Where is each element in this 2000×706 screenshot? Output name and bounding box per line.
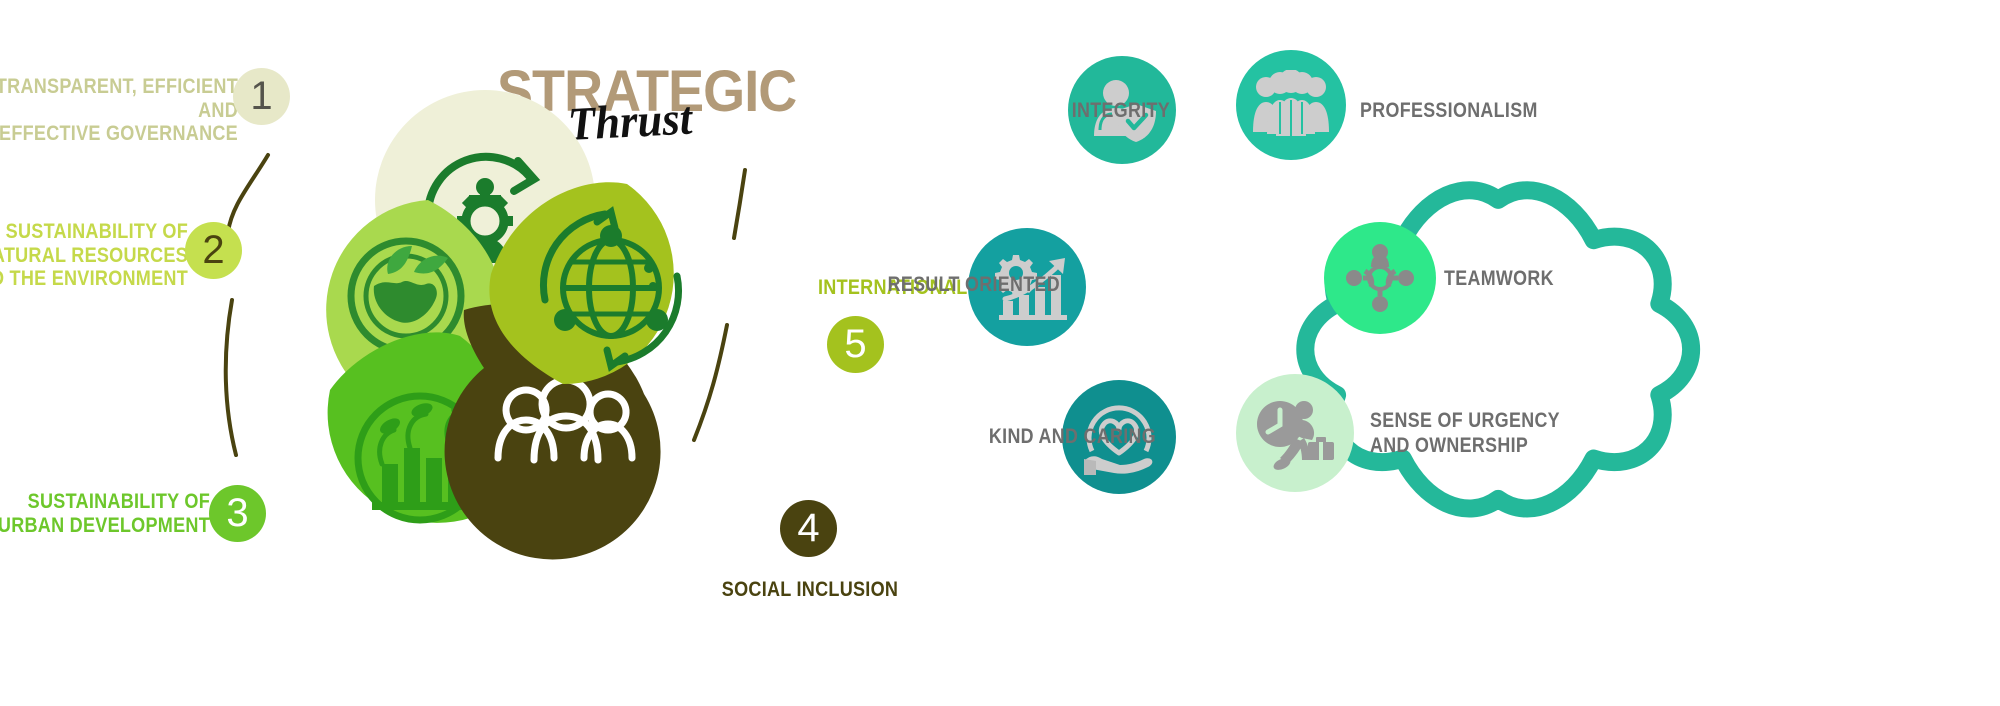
clock-running-person-icon	[1254, 394, 1336, 472]
value-label-professionalism: PROFESSIONALISM	[1360, 98, 1615, 123]
network-people-icon	[1343, 241, 1417, 315]
petal-internationalization[interactable]	[485, 178, 730, 403]
value-label-teamwork: TEAMWORK	[1444, 266, 1699, 291]
strategic-label-2: SUSTAINABILITY OF NATURAL RESOURCES AND …	[0, 220, 188, 291]
strategic-badge-5[interactable]: 5	[827, 316, 884, 373]
strategic-badge-3[interactable]: 3	[209, 485, 266, 542]
value-label-result-oriented: RESULT ORIENTED	[805, 272, 1060, 297]
value-label-integrity: INTEGRITY	[949, 98, 1170, 123]
strategic-badge-4[interactable]: 4	[780, 500, 837, 557]
strategic-label-4: SOCIAL INCLUSION	[698, 578, 922, 602]
strategic-badge-2[interactable]: 2	[185, 222, 242, 279]
value-label-kind-and-caring: KIND AND CARING	[901, 424, 1156, 449]
value-circle-sense-of-urgency[interactable]	[1236, 374, 1354, 492]
strategic-thrust-infographic: STRATEGIC Thrust	[0, 0, 1000, 706]
value-label-sense-of-urgency: SENSE OF URGENCY AND OWNERSHIP	[1370, 408, 1642, 458]
strategic-label-1: TRANSPARENT, EFFICIENT AND EFFECTIVE GOV…	[0, 75, 238, 146]
team-group-icon	[1251, 70, 1331, 140]
value-circle-teamwork[interactable]	[1324, 222, 1436, 334]
shared-values-infographic: 6 SHARED VALUES INTEGRITY	[1000, 0, 2000, 706]
strategic-badge-1[interactable]: 1	[233, 68, 290, 125]
strategic-label-3: SUSTAINABILITY OF URBAN DEVELOPMENT	[0, 490, 210, 537]
value-circle-professionalism[interactable]	[1236, 50, 1346, 160]
